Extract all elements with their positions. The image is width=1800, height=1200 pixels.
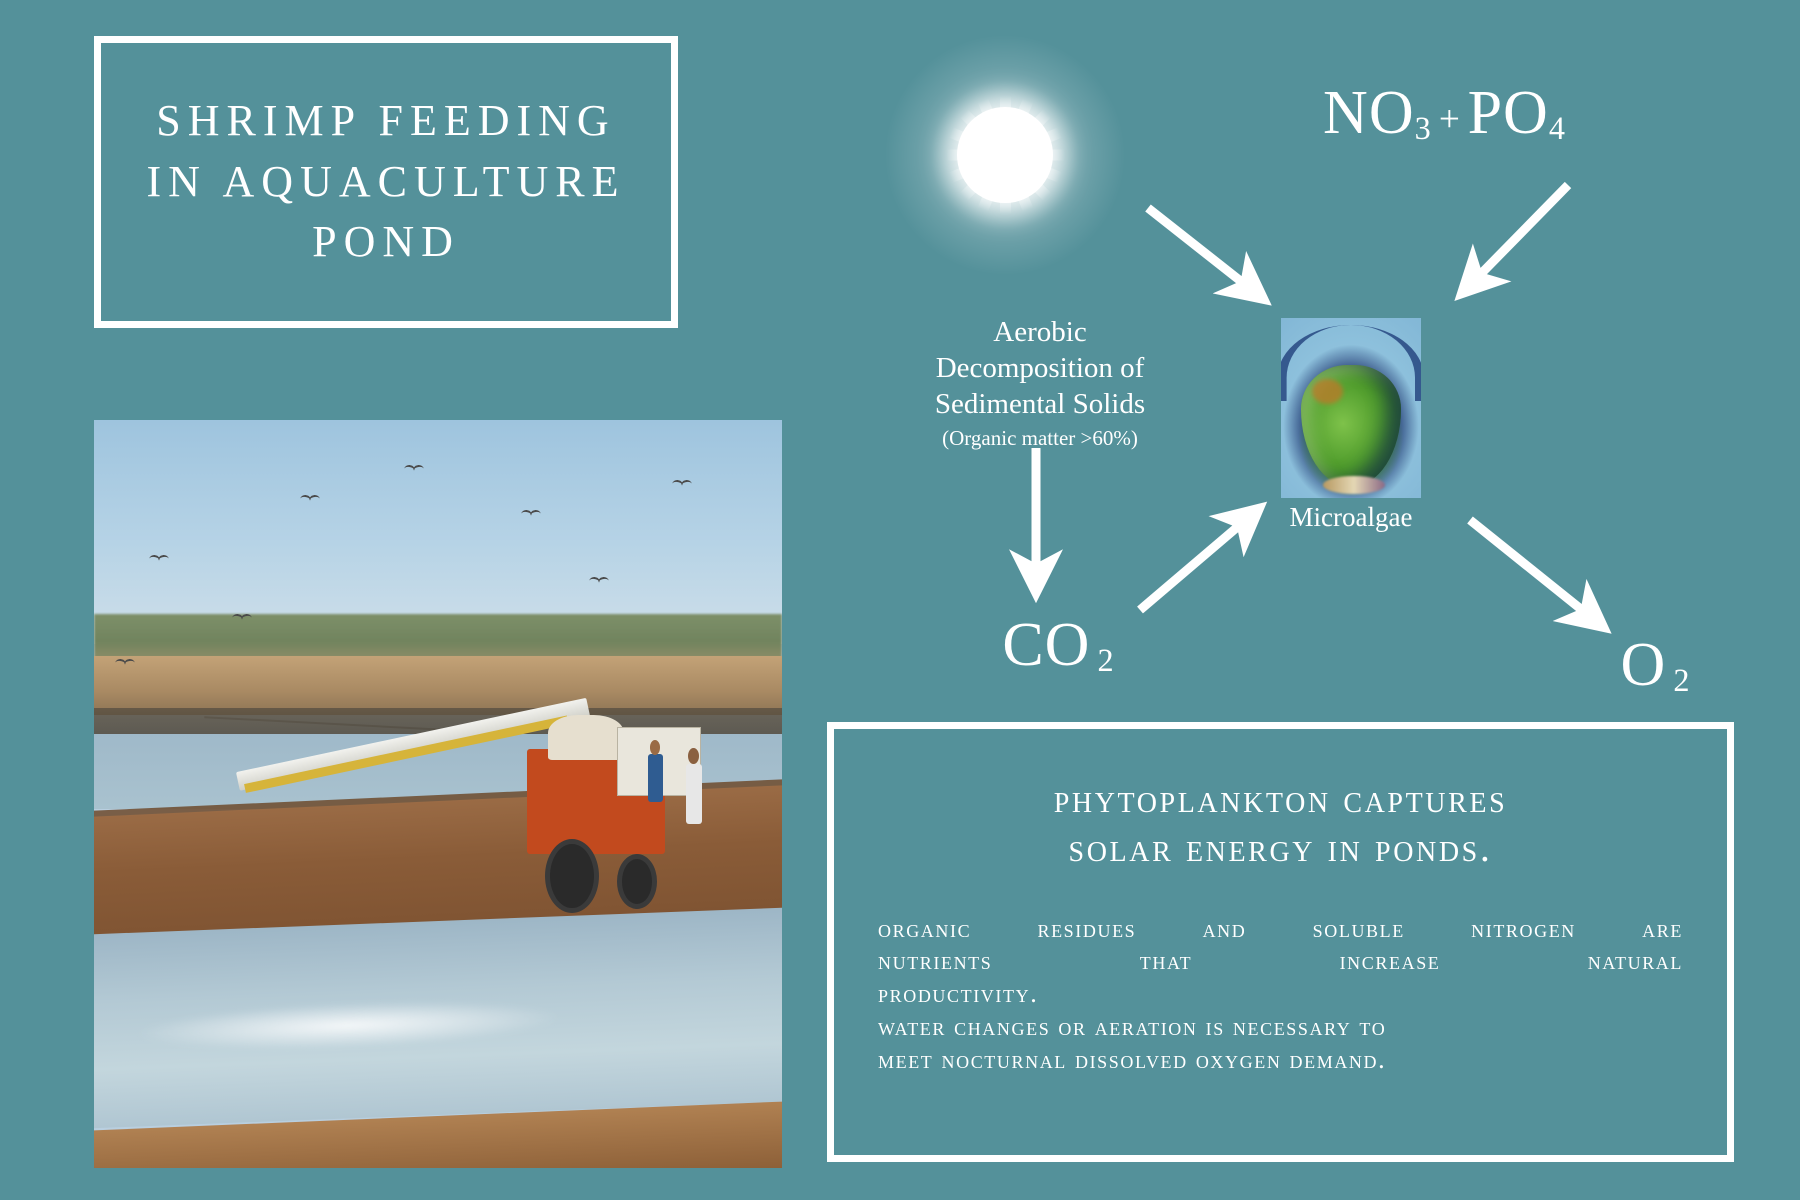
sun-icon xyxy=(880,30,1130,280)
photo-bird xyxy=(115,659,137,669)
info-body: Organic residues and soluble nitrogen ar… xyxy=(878,913,1683,1077)
aquaculture-pond-photo xyxy=(94,420,782,1168)
aerobic-note: (Organic matter >60%) xyxy=(880,425,1200,451)
co2-formula: CO xyxy=(1002,611,1090,679)
info-body-line-3: productivity. xyxy=(878,978,1683,1011)
o2-subscript: 2 xyxy=(1666,662,1689,698)
plus-sign: + xyxy=(1431,99,1468,140)
aerobic-line-2: Decomposition of xyxy=(880,351,1200,387)
photo-bird xyxy=(300,495,322,505)
info-box: Phytoplankton captures solar energy in p… xyxy=(827,722,1734,1162)
info-heading-line-2: solar energy in ponds. xyxy=(878,824,1683,873)
photo-tractor-canopy xyxy=(548,715,624,760)
sun-core xyxy=(957,107,1053,203)
title-box: Shrimp feeding in aquaculture pond xyxy=(94,36,678,328)
photo-bird xyxy=(521,510,543,520)
microalgae-figure: Microalgae xyxy=(1281,318,1421,498)
photo-worker-two xyxy=(686,764,703,824)
info-heading-line-1: Phytoplankton captures xyxy=(878,775,1683,824)
arrow-nutrients-to-algae xyxy=(1472,185,1568,283)
arrow-algae-to-o2 xyxy=(1470,520,1592,618)
aerobic-line-1: Aerobic xyxy=(880,315,1200,351)
no3-subscript: 3 xyxy=(1415,110,1431,146)
o2-label: O2 xyxy=(1621,630,1690,701)
photo-treeline xyxy=(94,614,782,659)
photo-tractor-front-wheel xyxy=(617,854,657,909)
microalgae-base-granules xyxy=(1323,476,1385,494)
info-body-line-2: nutrients that increase natural xyxy=(878,945,1683,978)
photo-far-bank xyxy=(94,656,782,716)
no3-formula: NO xyxy=(1323,79,1415,147)
info-heading: Phytoplankton captures solar energy in p… xyxy=(878,775,1683,873)
photo-bird xyxy=(149,555,171,565)
photo-worker-one xyxy=(648,754,663,803)
photo-sky xyxy=(94,420,782,644)
photo-bird xyxy=(404,465,426,475)
microalgae-label: Microalgae xyxy=(1290,502,1413,533)
o2-formula: O xyxy=(1621,631,1667,699)
info-body-line-1: Organic residues and soluble nitrogen ar… xyxy=(878,913,1683,946)
co2-label: CO2 xyxy=(1002,610,1113,681)
arrow-co2-to-algae xyxy=(1140,518,1248,610)
microalgae-photo xyxy=(1281,318,1421,498)
photo-bird xyxy=(672,480,694,490)
aerobic-decomposition-label: Aerobic Decomposition of Sedimental Soli… xyxy=(880,315,1200,451)
info-body-line-5: meet nocturnal dissolved oxygen demand. xyxy=(878,1044,1683,1077)
aerobic-line-3: Sedimental Solids xyxy=(880,387,1200,423)
po4-subscript: 4 xyxy=(1549,110,1565,146)
nutrients-label: NO3+PO4 xyxy=(1323,78,1565,149)
info-body-line-4: Water changes or aeration is necessary t… xyxy=(878,1011,1683,1044)
arrow-sun-to-algae xyxy=(1148,208,1252,290)
photo-bird xyxy=(589,577,611,587)
page-title: Shrimp feeding in aquaculture pond xyxy=(101,91,671,273)
photo-tractor-rear-wheel xyxy=(545,839,599,913)
photo-bird xyxy=(232,614,254,624)
photo-worker-two-head xyxy=(688,748,699,764)
microalgae-pigment-spot xyxy=(1312,379,1343,404)
infographic-canvas: Shrimp feeding in aquaculture pond xyxy=(0,0,1800,1200)
po4-formula: PO xyxy=(1468,79,1549,147)
co2-subscript: 2 xyxy=(1090,642,1113,678)
